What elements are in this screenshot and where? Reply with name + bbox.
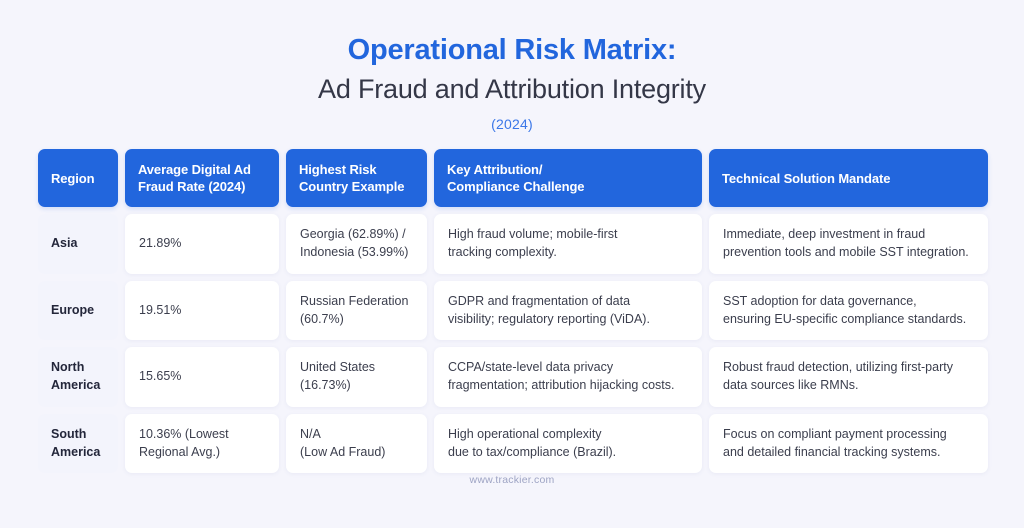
cell-mandate-line-1: Robust fraud detection, utilizing first-… <box>723 359 953 377</box>
table-row: North America 15.65% United States (16.7… <box>38 347 986 407</box>
cell-mandate: SST adoption for data governance, ensuri… <box>709 281 988 341</box>
cell-mandate-line-1: Immediate, deep investment in fraud <box>723 226 969 244</box>
cell-country-example-line-2: (Low Ad Fraud) <box>300 444 385 462</box>
cell-challenge-line-2: tracking complexity. <box>448 244 618 262</box>
cell-mandate-line-2: prevention tools and mobile SST integrat… <box>723 244 969 262</box>
page-title: Operational Risk Matrix: <box>0 32 1024 69</box>
page-subtitle: Ad Fraud and Attribution Integrity <box>0 72 1024 107</box>
cell-challenge: High operational complexity due to tax/c… <box>434 414 702 474</box>
cell-country-example-line-1: Russian Federation <box>300 293 408 311</box>
cell-fraud-rate: 19.51% <box>125 281 279 341</box>
column-header-fraud-rate-line-1: Average Digital Ad <box>138 161 251 178</box>
column-header-challenge-line-2: Compliance Challenge <box>447 178 584 195</box>
cell-challenge-line-2: visibility; regulatory reporting (ViDA). <box>448 311 650 329</box>
column-header-challenge: Key Attribution/ Compliance Challenge <box>434 149 702 207</box>
column-header-mandate-line-1: Technical Solution Mandate <box>722 170 890 187</box>
cell-mandate: Focus on compliant payment processing an… <box>709 414 988 474</box>
column-header-mandate: Technical Solution Mandate <box>709 149 988 207</box>
cell-challenge: CCPA/state-level data privacy fragmentat… <box>434 347 702 407</box>
cell-challenge-line-1: CCPA/state-level data privacy <box>448 359 675 377</box>
cell-fraud-rate: 21.89% <box>125 214 279 274</box>
cell-challenge: GDPR and fragmentation of data visibilit… <box>434 281 702 341</box>
cell-country-example-line-2: (16.73%) <box>300 377 375 395</box>
cell-region: North America <box>38 347 118 407</box>
cell-region-line-1: Europe <box>51 302 94 320</box>
cell-country-example-line-1: N/A <box>300 426 385 444</box>
cell-region: Europe <box>38 281 118 341</box>
column-header-challenge-line-1: Key Attribution/ <box>447 161 584 178</box>
cell-fraud-rate-line-1: 19.51% <box>139 302 181 320</box>
column-header-region: Region <box>38 149 118 207</box>
risk-matrix-table: Region Average Digital Ad Fraud Rate (20… <box>38 149 986 473</box>
cell-region-line-2: America <box>51 444 100 462</box>
cell-fraud-rate-line-2: Regional Avg.) <box>139 444 229 462</box>
cell-region-line-1: South <box>51 426 100 444</box>
cell-challenge-line-1: High operational complexity <box>448 426 616 444</box>
column-header-fraud-rate-line-2: Fraud Rate (2024) <box>138 178 251 195</box>
cell-fraud-rate-line-1: 21.89% <box>139 235 181 253</box>
cell-fraud-rate-line-1: 15.65% <box>139 368 181 386</box>
column-header-country-example-line-2: Country Example <box>299 178 404 195</box>
cell-country-example-line-1: United States <box>300 359 375 377</box>
cell-mandate-line-1: SST adoption for data governance, <box>723 293 966 311</box>
cell-country-example-line-2: (60.7%) <box>300 311 408 329</box>
cell-fraud-rate: 10.36% (Lowest Regional Avg.) <box>125 414 279 474</box>
page-title-year: (2024) <box>0 116 1024 132</box>
cell-challenge-line-1: High fraud volume; mobile-first <box>448 226 618 244</box>
cell-region-line-2: America <box>51 377 100 395</box>
column-header-country-example: Highest Risk Country Example <box>286 149 427 207</box>
table-row: Asia 21.89% Georgia (62.89%) / Indonesia… <box>38 214 986 274</box>
cell-challenge-line-2: fragmentation; attribution hijacking cos… <box>448 377 675 395</box>
cell-region-line-1: North <box>51 359 100 377</box>
column-header-fraud-rate: Average Digital Ad Fraud Rate (2024) <box>125 149 279 207</box>
cell-mandate-line-2: ensuring EU-specific compliance standard… <box>723 311 966 329</box>
cell-region: Asia <box>38 214 118 274</box>
cell-mandate-line-2: data sources like RMNs. <box>723 377 953 395</box>
cell-country-example-line-1: Georgia (62.89%) / <box>300 226 408 244</box>
cell-challenge: High fraud volume; mobile-first tracking… <box>434 214 702 274</box>
cell-country-example-line-2: Indonesia (53.99%) <box>300 244 408 262</box>
cell-country-example: N/A (Low Ad Fraud) <box>286 414 427 474</box>
table-row: Europe 19.51% Russian Federation (60.7%)… <box>38 281 986 341</box>
cell-challenge-line-2: due to tax/compliance (Brazil). <box>448 444 616 462</box>
cell-fraud-rate-line-1: 10.36% (Lowest <box>139 426 229 444</box>
cell-country-example: Russian Federation (60.7%) <box>286 281 427 341</box>
cell-mandate: Immediate, deep investment in fraud prev… <box>709 214 988 274</box>
column-header-region-line-1: Region <box>51 170 94 187</box>
source-attribution: www.trackier.com <box>0 474 1024 486</box>
table-header-row: Region Average Digital Ad Fraud Rate (20… <box>38 149 986 207</box>
table-row: South America 10.36% (Lowest Regional Av… <box>38 414 986 474</box>
cell-challenge-line-1: GDPR and fragmentation of data <box>448 293 650 311</box>
cell-mandate: Robust fraud detection, utilizing first-… <box>709 347 988 407</box>
cell-country-example: United States (16.73%) <box>286 347 427 407</box>
cell-mandate-line-2: and detailed financial tracking systems. <box>723 444 947 462</box>
cell-region: South America <box>38 414 118 474</box>
cell-mandate-line-1: Focus on compliant payment processing <box>723 426 947 444</box>
page-title-block: Operational Risk Matrix: Ad Fraud and At… <box>0 0 1024 132</box>
cell-fraud-rate: 15.65% <box>125 347 279 407</box>
cell-region-line-1: Asia <box>51 235 77 253</box>
cell-country-example: Georgia (62.89%) / Indonesia (53.99%) <box>286 214 427 274</box>
column-header-country-example-line-1: Highest Risk <box>299 161 404 178</box>
